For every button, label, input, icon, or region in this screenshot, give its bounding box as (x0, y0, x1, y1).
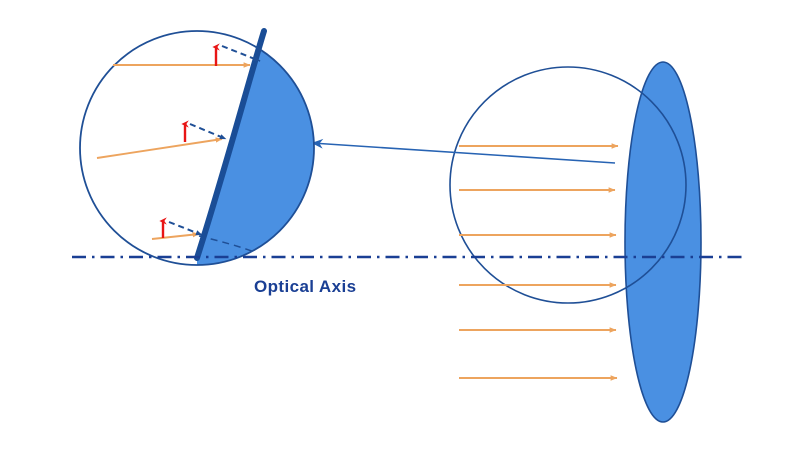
refracted-dashed-3 (169, 222, 202, 235)
magnified-incident-ray-3 (152, 234, 199, 239)
magnified-lens-body (197, 30, 330, 285)
refracted-dashed-2 (190, 124, 226, 139)
surface-normal-group (163, 47, 216, 238)
incident-ray-group-right (459, 146, 618, 378)
lens-assembly (450, 62, 701, 422)
optical-axis-label: Optical Axis (254, 277, 356, 296)
magnified-view (80, 30, 330, 285)
diagram-canvas: Optical Axis (0, 0, 800, 450)
magnified-incident-ray-2 (97, 139, 222, 158)
optics-diagram: Optical Axis (0, 0, 800, 450)
